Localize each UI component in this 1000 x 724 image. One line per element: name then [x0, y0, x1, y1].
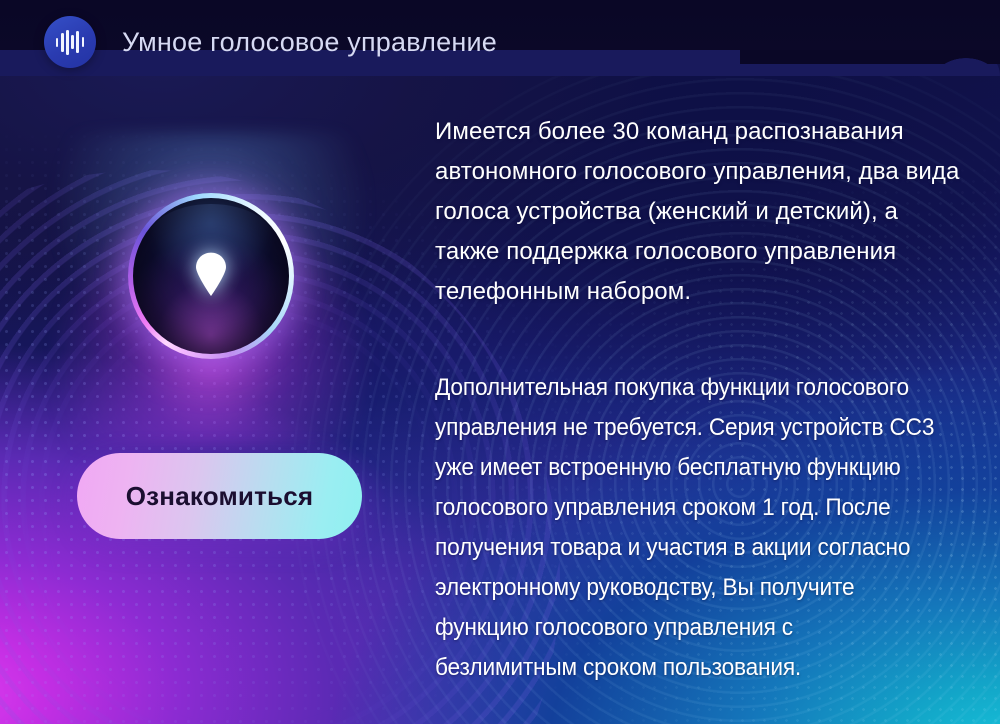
- header: Умное голосовое управление: [44, 16, 497, 68]
- orb-ring: [128, 193, 294, 359]
- voice-wave-icon: [44, 16, 96, 68]
- description-block: Имеется более 30 команд распознавания ав…: [435, 112, 965, 688]
- card-lip-mask: [740, 50, 1000, 64]
- wave-bars: [56, 29, 85, 55]
- voice-control-promo-card: Умное голосовое управление Ознакомиться …: [0, 0, 1000, 724]
- learn-more-button[interactable]: Ознакомиться: [77, 453, 362, 539]
- description-paragraph-2: Дополнительная покупка функции голосовог…: [435, 368, 936, 688]
- voice-pin-icon: [194, 252, 228, 296]
- description-paragraph-1: Имеется более 30 команд распознавания ав…: [435, 112, 965, 312]
- voice-assistant-orb: [118, 183, 304, 369]
- page-title: Умное голосовое управление: [122, 27, 497, 58]
